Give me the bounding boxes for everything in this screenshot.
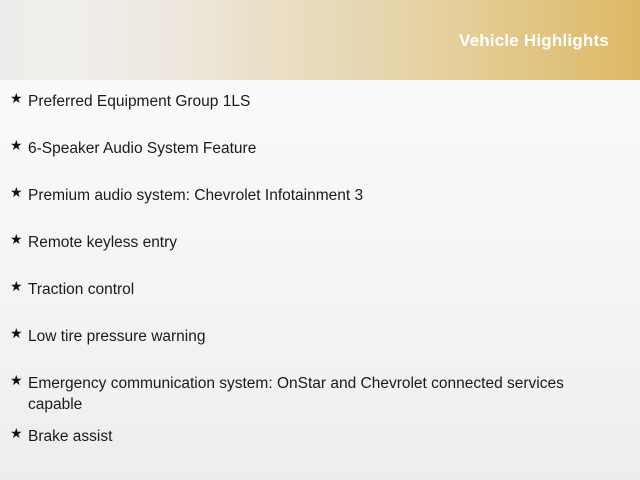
star-icon: ★ xyxy=(10,325,22,341)
list-item-label: Brake assist xyxy=(28,415,612,447)
star-icon: ★ xyxy=(10,278,22,294)
list-item-label: Preferred Equipment Group 1LS xyxy=(28,80,612,112)
star-icon: ★ xyxy=(10,231,22,247)
star-icon: ★ xyxy=(10,372,22,388)
list-item: ★ Emergency communication system: OnStar… xyxy=(0,362,640,415)
star-icon: ★ xyxy=(10,90,22,106)
star-icon: ★ xyxy=(10,137,22,153)
list-item-label: Low tire pressure warning xyxy=(28,315,612,347)
star-icon: ★ xyxy=(10,425,22,441)
vehicle-highlights-panel: Vehicle Highlights ★ Preferred Equipment… xyxy=(0,0,640,480)
header-banner: Vehicle Highlights xyxy=(0,0,640,80)
list-item: ★ 6-Speaker Audio System Feature xyxy=(0,127,640,174)
list-item: ★ Remote keyless entry xyxy=(0,221,640,268)
page-title: Vehicle Highlights xyxy=(459,31,609,51)
list-item: ★ Low tire pressure warning xyxy=(0,315,640,362)
list-item-label: Remote keyless entry xyxy=(28,221,612,253)
list-item-label: Emergency communication system: OnStar a… xyxy=(28,362,612,415)
list-item-label: Traction control xyxy=(28,268,612,300)
list-item-label: Premium audio system: Chevrolet Infotain… xyxy=(28,174,612,206)
star-icon: ★ xyxy=(10,184,22,200)
vehicle-highlights-list: ★ Preferred Equipment Group 1LS ★ 6-Spea… xyxy=(0,80,640,462)
list-item-label: 6-Speaker Audio System Feature xyxy=(28,127,612,159)
list-item: ★ Preferred Equipment Group 1LS xyxy=(0,80,640,127)
list-item: ★ Premium audio system: Chevrolet Infota… xyxy=(0,174,640,221)
list-item: ★ Traction control xyxy=(0,268,640,315)
list-item: ★ Brake assist xyxy=(0,415,640,462)
